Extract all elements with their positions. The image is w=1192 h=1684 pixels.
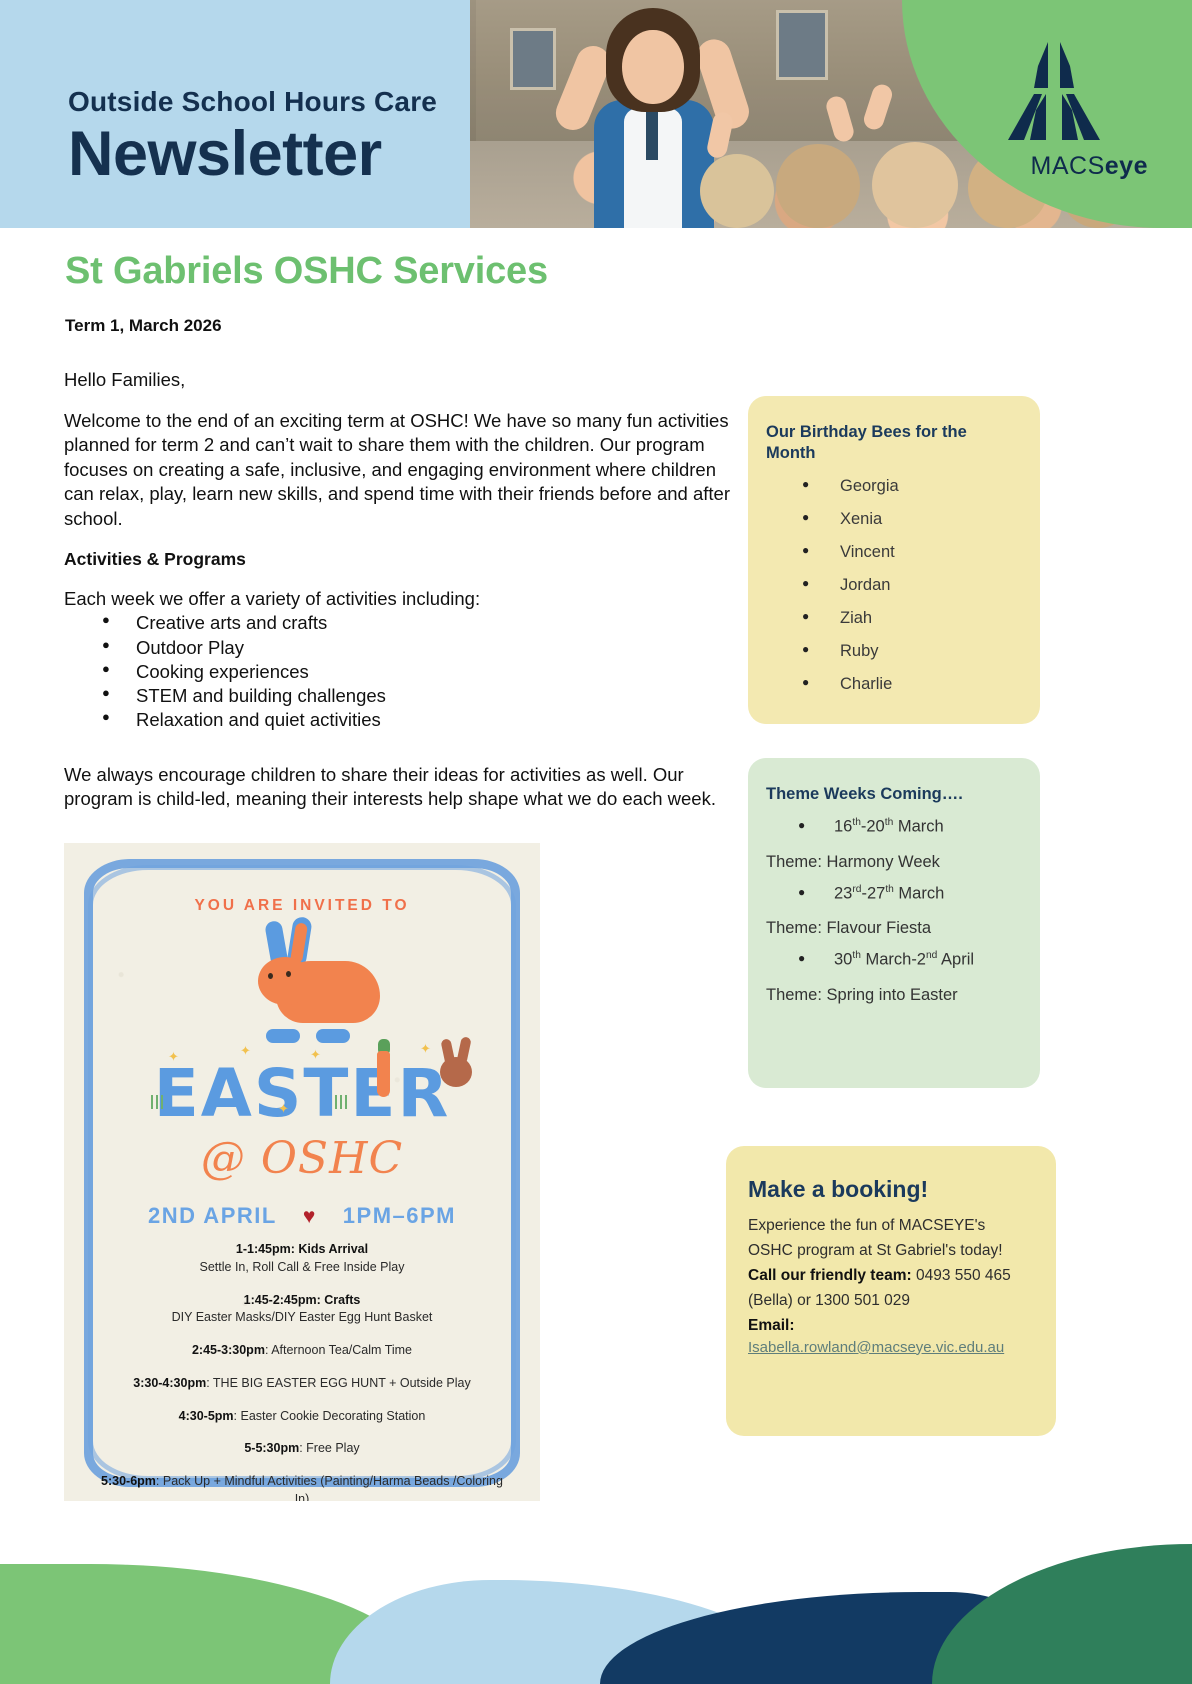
birthday-card-inner: Our Birthday Bees for the Month Georgia … bbox=[748, 396, 1040, 694]
activities-lead: Each week we offer a variety of activiti… bbox=[64, 587, 734, 612]
schedule-time: 5:30-6pm bbox=[101, 1474, 156, 1488]
grass-icon bbox=[332, 1095, 350, 1109]
list-item: Relaxation and quiet activities bbox=[64, 708, 734, 732]
list-item: STEM and building challenges bbox=[64, 684, 734, 708]
list-item: 23rd-27th March bbox=[766, 884, 1024, 904]
list-item: Jordan bbox=[766, 576, 1020, 595]
booking-heading: Make a booking! bbox=[748, 1176, 1034, 1203]
list-item: Georgia bbox=[766, 477, 1020, 496]
carrot-icon bbox=[377, 1051, 390, 1097]
grass-icon bbox=[148, 1095, 166, 1109]
booking-phone-line: Call our friendly team: 0493 550 465 bbox=[748, 1263, 1034, 1288]
activities-heading: Activities & Programs bbox=[64, 548, 734, 571]
email-link[interactable]: Isabella.rowland@macseye.vic.edu.au bbox=[748, 1339, 1004, 1356]
flyer-dateline: 2ND APRIL♥1PM–6PM bbox=[64, 1203, 540, 1229]
greeting-text: Hello Families, bbox=[64, 368, 734, 393]
schedule-time: 1-1:45pm: Kids Arrival bbox=[236, 1242, 368, 1256]
schedule-time: 1:45-2:45pm: Crafts bbox=[244, 1293, 361, 1307]
call-label: Call our friendly team: bbox=[748, 1267, 912, 1284]
schedule-time: 4:30-5pm bbox=[179, 1409, 234, 1423]
photo-child bbox=[862, 124, 966, 228]
schedule-item: 1:45-2:45pm: Crafts DIY Easter Masks/DIY… bbox=[100, 1292, 504, 1328]
activities-list: Creative arts and crafts Outdoor Play Co… bbox=[64, 611, 734, 732]
schedule-detail: : THE BIG EASTER EGG HUNT + Outside Play bbox=[206, 1376, 471, 1390]
child-head bbox=[700, 154, 774, 228]
list-item: Xenia bbox=[766, 510, 1020, 529]
flyer-invited-text: YOU ARE INVITED TO bbox=[64, 897, 540, 915]
main-content: St Gabriels OSHC Services Term 1, March … bbox=[0, 228, 1192, 1518]
theme-card-inner: Theme Weeks Coming…. 16th-20th March The… bbox=[748, 758, 1040, 1005]
intro-paragraph: Welcome to the end of an exciting term a… bbox=[64, 409, 734, 532]
schedule-item: 1-1:45pm: Kids Arrival Settle In, Roll C… bbox=[100, 1241, 504, 1277]
theme-weeks-card: Theme Weeks Coming…. 16th-20th March The… bbox=[748, 758, 1040, 1088]
bunny-head bbox=[258, 957, 312, 1005]
schedule-detail: : Pack Up + Mindful Activities (Painting… bbox=[156, 1474, 503, 1501]
body-column: Hello Families, Welcome to the end of an… bbox=[64, 368, 734, 828]
sparkle-icon: ✦ bbox=[278, 1101, 289, 1117]
flyer-date: 2ND APRIL bbox=[148, 1203, 277, 1228]
list-item: 16th-20th March bbox=[766, 817, 1024, 837]
theme-week-2: 23rd-27th March bbox=[766, 884, 1024, 904]
logo-wordmark: MACSeye bbox=[1031, 152, 1148, 181]
term-line: Term 1, March 2026 bbox=[65, 316, 222, 336]
theme-label-1: Theme: Harmony Week bbox=[766, 853, 1024, 872]
schedule-detail: DIY Easter Masks/DIY Easter Egg Hunt Bas… bbox=[172, 1310, 433, 1324]
bunny-eye bbox=[268, 973, 273, 979]
schedule-time: 3:30-4:30pm bbox=[133, 1376, 206, 1390]
birthday-card-heading: Our Birthday Bees for the Month bbox=[766, 422, 1020, 465]
schedule-item: 5-5:30pm: Free Play bbox=[100, 1440, 504, 1458]
newsletter-page: Outside School Hours Care Newsletter MAC… bbox=[0, 0, 1192, 1684]
birthday-bees-card: Our Birthday Bees for the Month Georgia … bbox=[748, 396, 1040, 724]
child-head bbox=[776, 144, 860, 228]
email-label: Email: bbox=[748, 1313, 1034, 1338]
list-item: Ruby bbox=[766, 642, 1020, 661]
list-item: Creative arts and crafts bbox=[64, 611, 734, 635]
child-head bbox=[872, 142, 958, 228]
easter-flyer-image: YOU ARE INVITED TO EASTER bbox=[64, 843, 540, 1501]
sparkle-icon: ✦ bbox=[168, 1049, 179, 1065]
heart-icon: ♥ bbox=[303, 1205, 317, 1228]
photo-child bbox=[692, 142, 782, 228]
page-footer bbox=[0, 1518, 1192, 1684]
schedule-detail: : Easter Cookie Decorating Station bbox=[234, 1409, 426, 1423]
section-title: St Gabriels OSHC Services bbox=[65, 250, 548, 293]
schedule-item: 3:30-4:30pm: THE BIG EASTER EGG HUNT + O… bbox=[100, 1375, 504, 1393]
schedule-detail: : Free Play bbox=[299, 1441, 359, 1455]
logo-word-macs: MACS bbox=[1031, 152, 1105, 180]
list-item: Outdoor Play bbox=[64, 636, 734, 660]
booking-line-1: Experience the fun of MACSEYE's bbox=[748, 1213, 1034, 1238]
teacher-face bbox=[622, 30, 684, 104]
list-item: 30th March-2nd April bbox=[766, 950, 1024, 970]
theme-week-1: 16th-20th March bbox=[766, 817, 1024, 837]
bunny-illustration-icon bbox=[254, 925, 384, 1041]
sparkle-icon: ✦ bbox=[310, 1047, 321, 1063]
page-title: Newsletter bbox=[68, 122, 437, 186]
schedule-time: 2:45-3:30pm bbox=[192, 1343, 265, 1357]
bunny-foot bbox=[316, 1029, 350, 1043]
bunny-eye bbox=[286, 971, 291, 977]
mini-bunny-icon bbox=[436, 1041, 476, 1089]
schedule-time: 5-5:30pm bbox=[244, 1441, 299, 1455]
email-label-text: Email: bbox=[748, 1317, 795, 1334]
schedule-detail: Settle In, Roll Call & Free Inside Play bbox=[200, 1260, 405, 1274]
make-a-booking-card: Make a booking! Experience the fun of MA… bbox=[726, 1146, 1056, 1436]
list-item: Charlie bbox=[766, 675, 1020, 694]
flyer-subtitle: @ OSHC bbox=[64, 1133, 540, 1184]
sparkle-icon: ✦ bbox=[240, 1043, 251, 1059]
booking-line-2: OSHC program at St Gabriel's today! bbox=[748, 1238, 1034, 1263]
macseye-logo-icon bbox=[994, 36, 1114, 164]
phone-primary: 0493 550 465 bbox=[916, 1267, 1011, 1284]
booking-card-inner: Make a booking! Experience the fun of MA… bbox=[726, 1146, 1056, 1357]
theme-card-heading: Theme Weeks Coming…. bbox=[766, 784, 1024, 805]
sparkle-icon: ✦ bbox=[420, 1041, 431, 1057]
birthday-names-list: Georgia Xenia Vincent Jordan Ziah Ruby C… bbox=[766, 477, 1020, 694]
flyer-time: 1PM–6PM bbox=[343, 1203, 456, 1228]
footer-dark-green-shape bbox=[932, 1544, 1192, 1684]
flyer-schedule: 1-1:45pm: Kids Arrival Settle In, Roll C… bbox=[100, 1241, 504, 1501]
schedule-item: 5:30-6pm: Pack Up + Mindful Activities (… bbox=[100, 1473, 504, 1501]
phone-secondary: (Bella) or 1300 501 029 bbox=[748, 1288, 1034, 1313]
closing-paragraph: We always encourage children to share th… bbox=[64, 763, 734, 812]
logo-word-eye: eye bbox=[1105, 152, 1148, 180]
photo-child bbox=[770, 132, 866, 228]
bunny-foot bbox=[266, 1029, 300, 1043]
page-header: Outside School Hours Care Newsletter MAC… bbox=[0, 0, 1192, 228]
header-title-block: Outside School Hours Care Newsletter bbox=[68, 86, 437, 186]
schedule-detail: : Afternoon Tea/Calm Time bbox=[265, 1343, 412, 1357]
teacher-lanyard bbox=[646, 108, 658, 160]
photo-window bbox=[510, 28, 556, 90]
theme-week-3: 30th March-2nd April bbox=[766, 950, 1024, 970]
schedule-item: 2:45-3:30pm: Afternoon Tea/Calm Time bbox=[100, 1342, 504, 1360]
theme-label-2: Theme: Flavour Fiesta bbox=[766, 919, 1024, 938]
schedule-item: 4:30-5pm: Easter Cookie Decorating Stati… bbox=[100, 1408, 504, 1426]
list-item: Vincent bbox=[766, 543, 1020, 562]
theme-label-3: Theme: Spring into Easter bbox=[766, 986, 1024, 1005]
header-kicker: Outside School Hours Care bbox=[68, 86, 437, 118]
photo-window bbox=[776, 10, 828, 80]
mini-bunny-head bbox=[440, 1057, 472, 1087]
list-item: Cooking experiences bbox=[64, 660, 734, 684]
list-item: Ziah bbox=[766, 609, 1020, 628]
